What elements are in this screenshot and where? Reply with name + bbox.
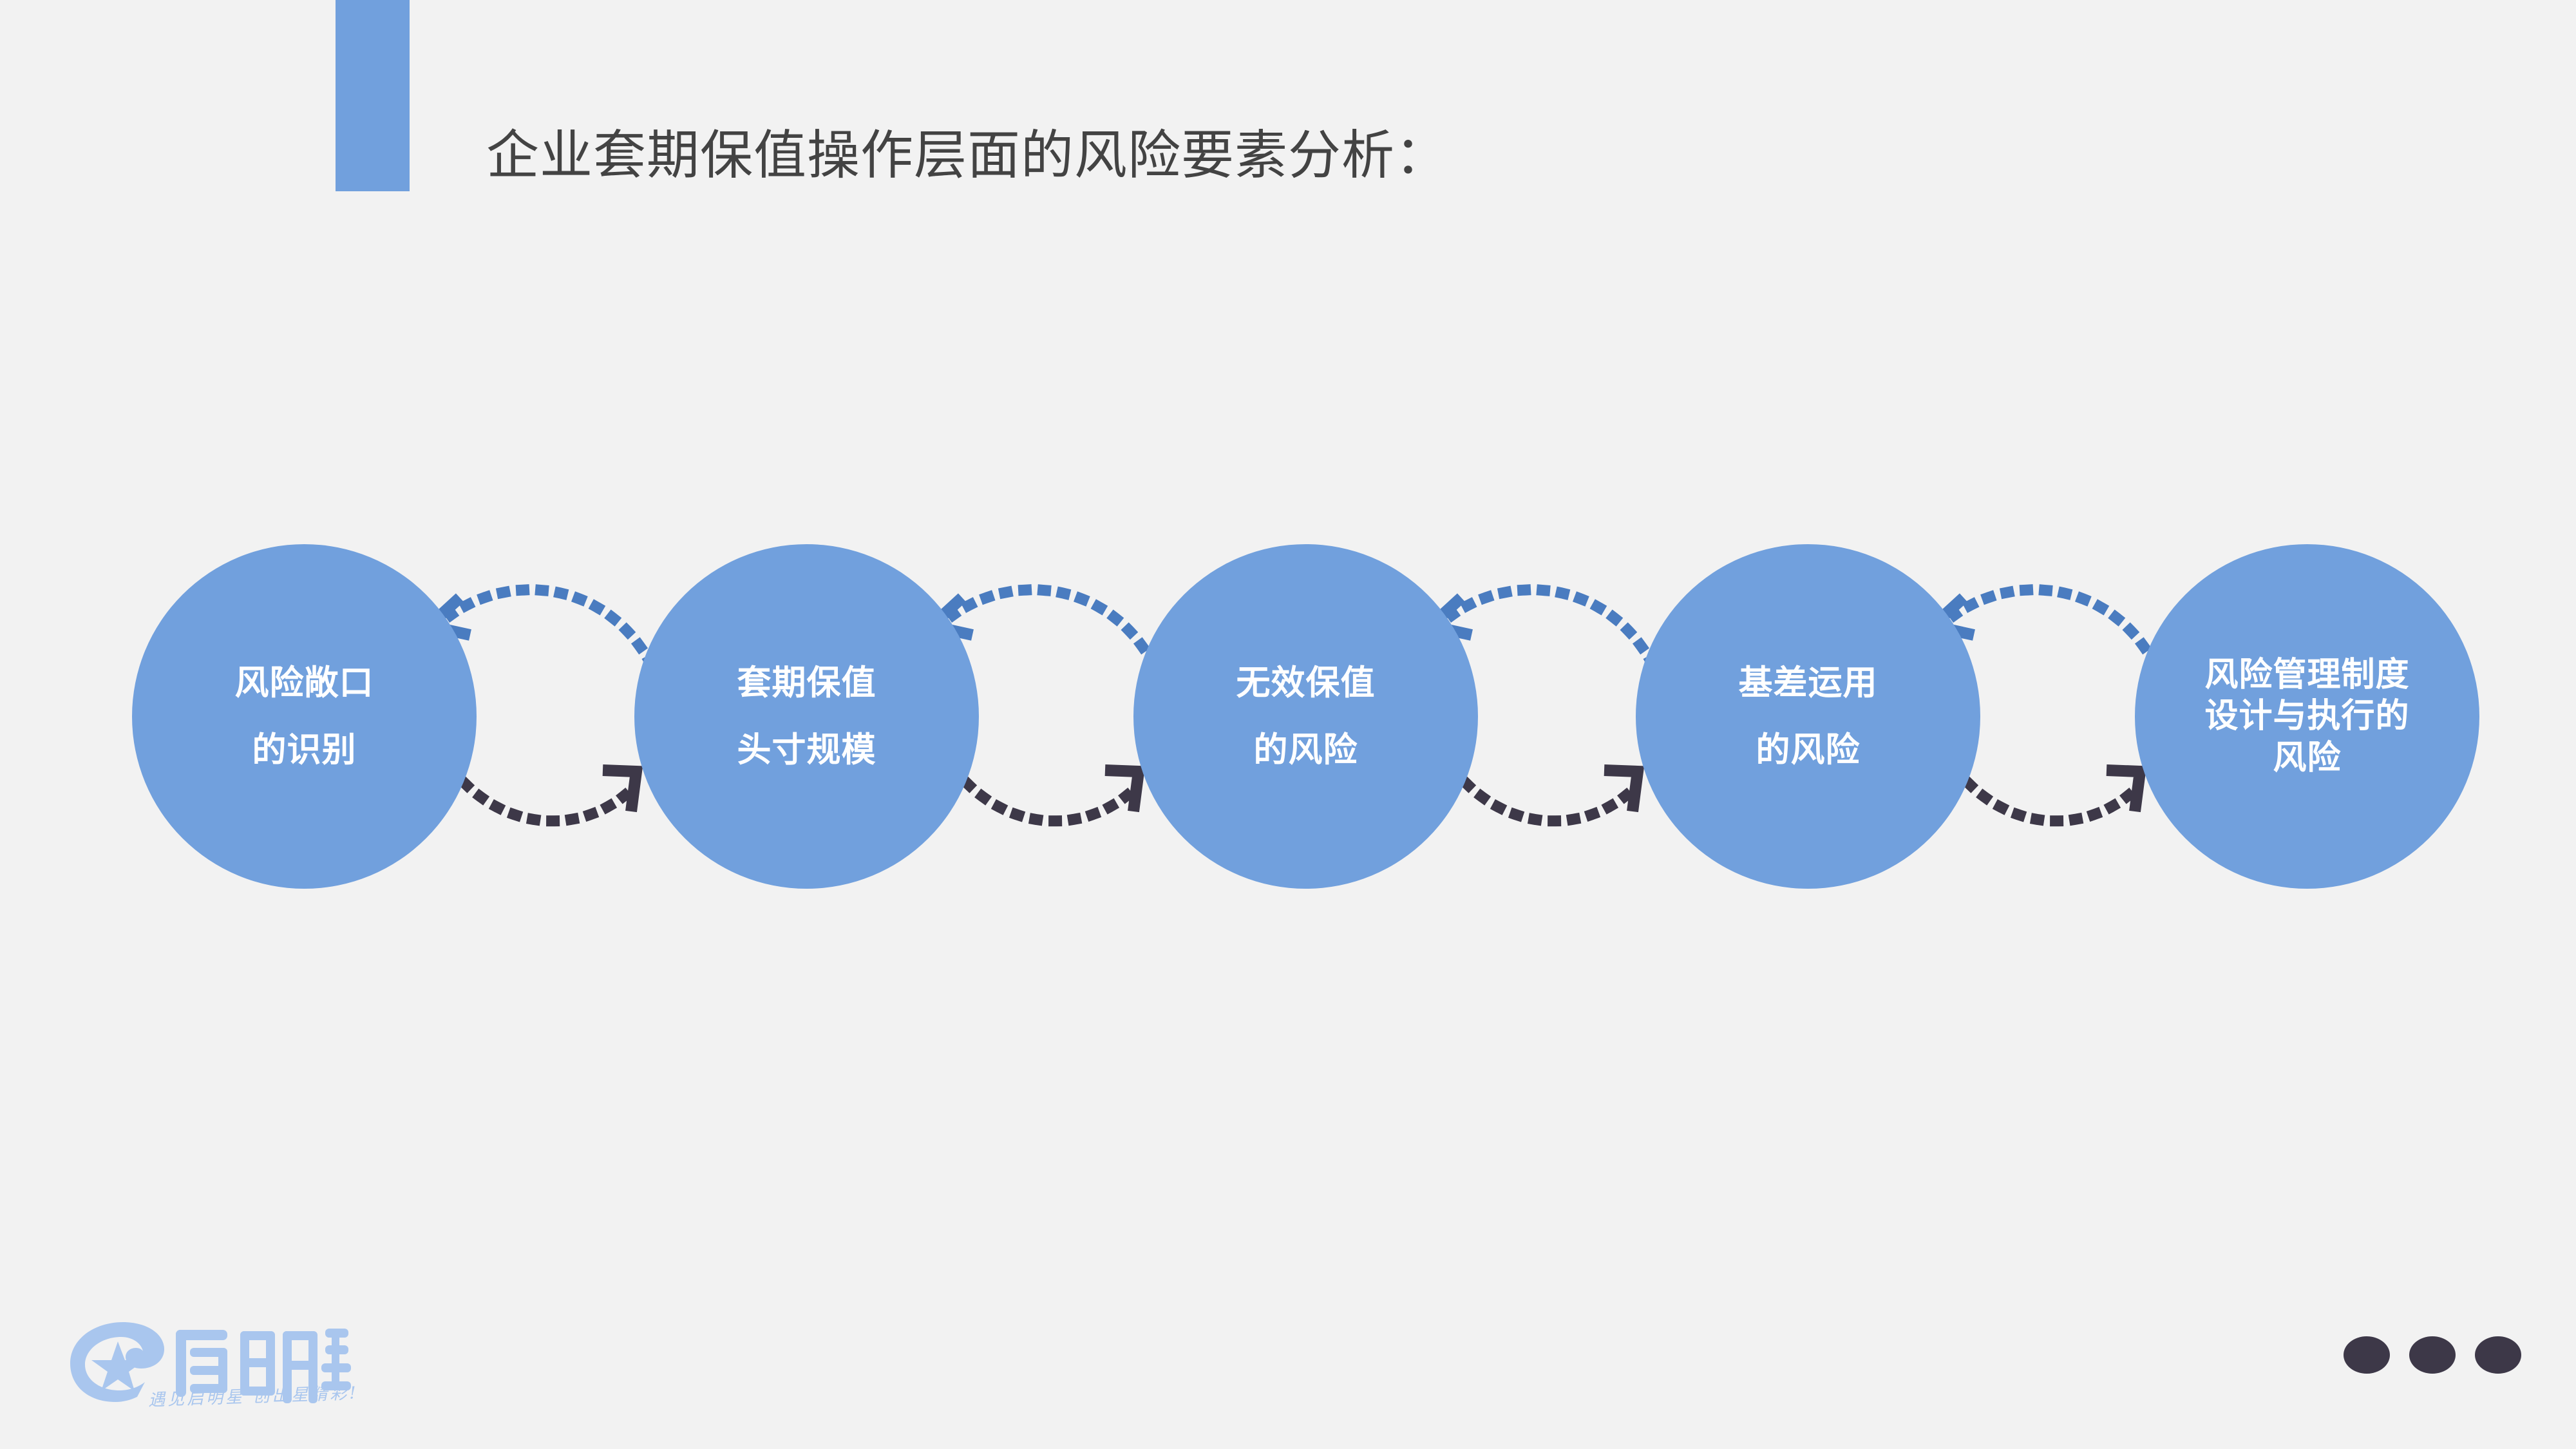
connector-4-top-dotted-path xyxy=(1955,590,2154,663)
connector-1-top-dotted-path xyxy=(451,590,650,663)
pager-dot[interactable] xyxy=(2475,1336,2521,1374)
pager-dot[interactable] xyxy=(2344,1336,2390,1374)
flow-node-line: 的识别 xyxy=(252,732,357,768)
flow-node-ineffective-hedging-risk[interactable]: 无效保值 的风险 xyxy=(1133,544,1478,889)
flow-node-line: 无效保值 xyxy=(1236,665,1376,701)
page-indicator xyxy=(2344,1336,2521,1374)
flow-node-basis-usage-risk[interactable]: 基差运用 的风险 xyxy=(1636,544,1980,889)
connector-3-top-dotted-path xyxy=(1452,590,1652,663)
flow-node-line: 风险 xyxy=(2273,739,2341,777)
flow-node-risk-management-system-risk[interactable]: 风险管理制度 设计与执行的 风险 xyxy=(2135,544,2479,889)
connector-2-top-dotted-path xyxy=(953,590,1153,663)
flow-node-line: 头寸规模 xyxy=(737,732,876,768)
flow-node-risk-exposure-identification[interactable]: 风险敞口 的识别 xyxy=(132,544,477,889)
connector-4-bottom-arrowhead-icon xyxy=(2107,770,2140,811)
flow-node-hedging-position-size[interactable]: 套期保值 头寸规模 xyxy=(634,544,979,889)
risk-factor-flow: 风险敞口 的识别 套期保值 头寸规模 无效保值 的风险 基差运用 的风险 风险管… xyxy=(0,0,2576,1449)
slide-canvas: 企业套期保值操作层面的风险要素分析： xyxy=(0,0,2576,1449)
flow-node-line: 基差运用 xyxy=(1739,665,1878,701)
flow-node-line: 的风险 xyxy=(1756,732,1861,768)
flow-node-line: 套期保值 xyxy=(737,665,876,701)
flow-node-line: 风险管理制度 xyxy=(2204,656,2409,694)
connector-2-bottom-arrowhead-icon xyxy=(1105,770,1139,811)
flow-node-line: 的风险 xyxy=(1254,732,1358,768)
flow-node-line: 设计与执行的 xyxy=(2204,697,2409,735)
pager-dot[interactable] xyxy=(2409,1336,2456,1374)
connector-3-bottom-arrowhead-icon xyxy=(1604,770,1638,811)
connector-1-bottom-arrowhead-icon xyxy=(603,770,636,811)
flow-node-line: 风险敞口 xyxy=(235,665,374,701)
